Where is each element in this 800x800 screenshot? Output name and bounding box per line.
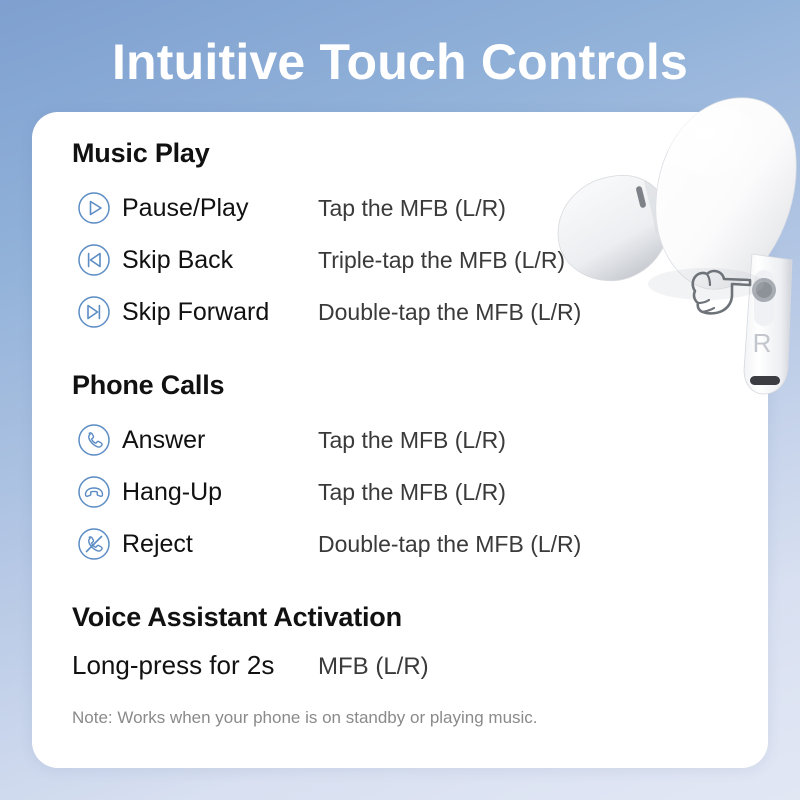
voice-action-label: MFB (L/R): [318, 653, 429, 681]
control-label: Skip Forward: [122, 298, 318, 327]
control-label: Hang-Up: [122, 478, 318, 507]
play-circle-icon: [76, 190, 112, 226]
note-text: Note: Works when your phone is on standb…: [72, 708, 538, 728]
control-label: Skip Back: [122, 246, 318, 275]
phone-answer-circle-icon: [76, 422, 112, 458]
skip-forward-circle-icon: [76, 294, 112, 330]
phone-reject-circle-icon: [76, 526, 112, 562]
control-row-skip-back[interactable]: Skip Back Triple-tap the MFB (L/R): [76, 238, 565, 282]
control-action: Double-tap the MFB (L/R): [318, 531, 581, 558]
skip-back-circle-icon: [76, 242, 112, 278]
phone-hangup-circle-icon: [76, 474, 112, 510]
section-heading-music: Music Play: [72, 138, 210, 169]
control-row-skip-forward[interactable]: Skip Forward Double-tap the MFB (L/R): [76, 290, 581, 334]
control-action: Tap the MFB (L/R): [318, 427, 506, 454]
control-action: Tap the MFB (L/R): [318, 479, 506, 506]
controls-card: Music Play Pause/Play Tap the MFB (L/R) …: [32, 112, 768, 768]
control-row-hang-up[interactable]: Hang-Up Tap the MFB (L/R): [76, 470, 506, 514]
voice-assistant-row[interactable]: Long-press for 2s MFB (L/R): [72, 650, 429, 681]
voice-gesture-label: Long-press for 2s: [72, 650, 318, 681]
section-heading-voice: Voice Assistant Activation: [72, 602, 402, 633]
control-row-pause-play[interactable]: Pause/Play Tap the MFB (L/R): [76, 186, 506, 230]
control-label: Reject: [122, 530, 318, 559]
control-row-answer[interactable]: Answer Tap the MFB (L/R): [76, 418, 506, 462]
control-action: Double-tap the MFB (L/R): [318, 299, 581, 326]
section-heading-phone: Phone Calls: [72, 370, 224, 401]
control-label: Answer: [122, 426, 318, 455]
control-label: Pause/Play: [122, 194, 318, 223]
control-action: Tap the MFB (L/R): [318, 195, 506, 222]
control-row-reject[interactable]: Reject Double-tap the MFB (L/R): [76, 522, 581, 566]
page-title: Intuitive Touch Controls: [0, 36, 800, 89]
control-action: Triple-tap the MFB (L/R): [318, 247, 565, 274]
